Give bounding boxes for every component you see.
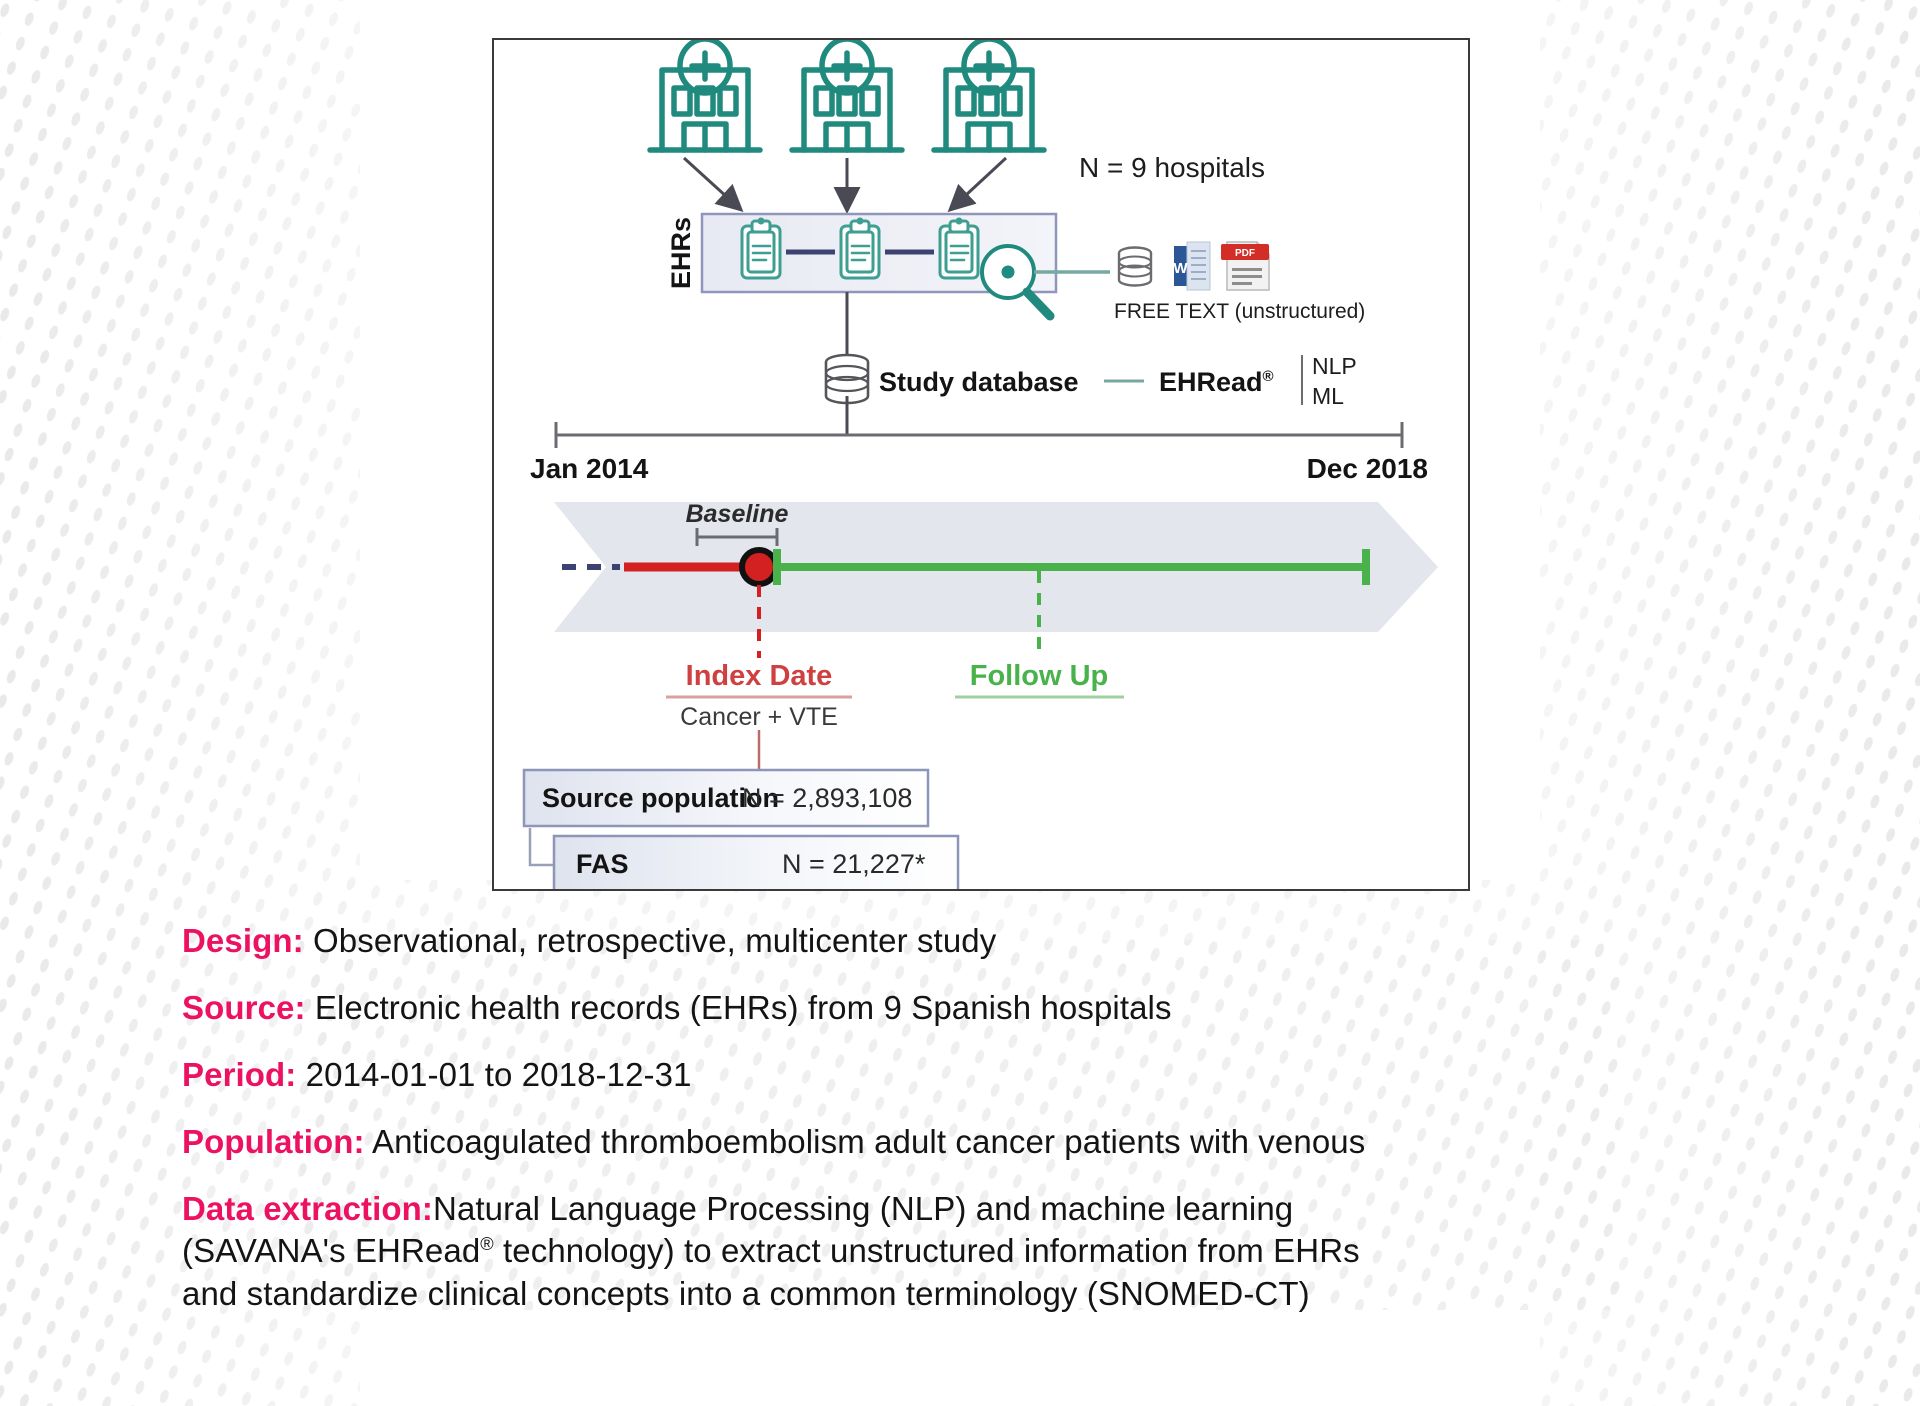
clipboard-icon-1: [742, 218, 780, 279]
summary-label-population: Population:: [182, 1123, 365, 1160]
ehread-method-nlp: NLP: [1312, 353, 1357, 379]
free-text-label: FREE TEXT (unstructured): [1114, 300, 1365, 323]
fas-value: N = 21,227*: [782, 849, 926, 879]
hospitals-count-label: N = 9 hospitals: [1079, 152, 1265, 183]
source-population-value: N = 2,893,108: [742, 783, 912, 813]
fas-label: FAS: [576, 849, 629, 879]
summary-label-source: Source:: [182, 989, 306, 1026]
index-date-label: Index Date: [686, 660, 833, 692]
study-summary-list: Design: Observational, retrospective, mu…: [182, 920, 1842, 1316]
summary-value-period: 2014-01-01 to 2018-12-31: [306, 1056, 692, 1093]
pdf-document-icon: PDF: [1221, 242, 1269, 290]
summary-row-period: Period: 2014-01-01 to 2018-12-31: [182, 1054, 1842, 1097]
summary-value-design: Observational, retrospective, multicente…: [313, 922, 996, 959]
ehrs-label: EHRs: [666, 217, 696, 289]
hospital-icon-1: [650, 40, 760, 150]
study-design-figure: N = 9 hospitals EHRs: [492, 38, 1470, 891]
timeline-end-label: Dec 2018: [1307, 453, 1428, 484]
study-database-label: Study database: [879, 367, 1079, 397]
study-database-icon: [826, 355, 868, 403]
ehread-method-ml: ML: [1312, 383, 1344, 409]
summary-row-source: Source: Electronic health records (EHRs)…: [182, 987, 1842, 1030]
source-to-fas-connector: [530, 828, 554, 865]
summary-label-data-extraction: Data extraction:: [182, 1190, 433, 1227]
registered-mark: ®: [480, 1234, 493, 1254]
hospital-icon-2: [792, 40, 902, 150]
summary-value-data-extraction: Natural Language Processing (NLP) and ma…: [433, 1190, 1293, 1227]
index-date-marker: [742, 550, 776, 584]
summary-label-period: Period:: [182, 1056, 296, 1093]
svg-text:PDF: PDF: [1235, 248, 1255, 259]
hospital-icon-3: [934, 40, 1044, 150]
arrow-hospital-3: [952, 158, 1006, 208]
arrow-hospital-1: [684, 158, 739, 208]
database-icon: [1119, 248, 1151, 286]
summary-row-population: Population: Anticoagulated thromboemboli…: [182, 1121, 1842, 1164]
summary-row-design: Design: Observational, retrospective, mu…: [182, 920, 1842, 963]
figure-canvas: N = 9 hospitals EHRs: [494, 40, 1468, 889]
follow-up-label: Follow Up: [970, 660, 1109, 692]
clipboard-icon-2: [841, 218, 879, 279]
ehread-label: EHRead®: [1159, 367, 1274, 397]
summary-value-data-extraction-line2-post: technology) to extract unstructured info…: [494, 1232, 1360, 1269]
summary-value-source: Electronic health records (EHRs) from 9 …: [315, 989, 1172, 1026]
summary-row-data-extraction: Data extraction:Natural Language Process…: [182, 1188, 1842, 1317]
summary-value-data-extraction-line3: and standardize clinical concepts into a…: [182, 1275, 1310, 1312]
word-document-icon: W: [1173, 242, 1210, 290]
timeline-start-label: Jan 2014: [530, 453, 649, 484]
summary-label-design: Design:: [182, 922, 304, 959]
svg-text:W: W: [1173, 260, 1188, 277]
summary-value-data-extraction-line2-pre: (SAVANA's EHRead: [182, 1232, 480, 1269]
summary-value-population: Anticoagulated thromboembolism adult can…: [372, 1123, 1365, 1160]
baseline-label: Baseline: [686, 500, 789, 528]
index-date-sublabel: Cancer + VTE: [680, 703, 838, 731]
clipboard-icon-3: [940, 218, 978, 279]
